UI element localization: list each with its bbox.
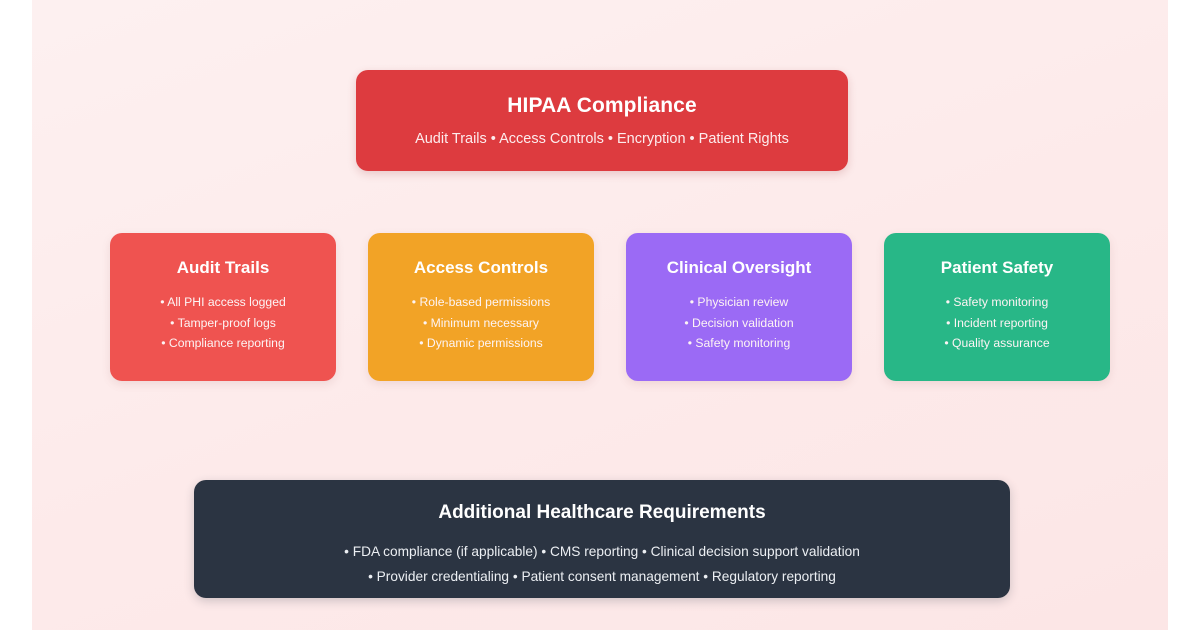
pillar-card-row: Audit Trails • All PHI access logged • T… xyxy=(110,233,1110,381)
footer-line: • Provider credentialing • Patient conse… xyxy=(344,564,860,589)
hipaa-compliance-banner: HIPAA Compliance Audit Trails • Access C… xyxy=(356,70,848,171)
list-item: • Dynamic permissions xyxy=(412,333,550,354)
list-item: • Incident reporting xyxy=(944,313,1049,334)
footer-title: Additional Healthcare Requirements xyxy=(438,502,765,525)
list-item: • Safety monitoring xyxy=(944,292,1049,313)
card-item-list: • Role-based permissions • Minimum neces… xyxy=(412,292,550,354)
list-item: • Role-based permissions xyxy=(412,292,550,313)
banner-subtitle: Audit Trails • Access Controls • Encrypt… xyxy=(415,131,789,148)
pillar-card-patient-safety: Patient Safety • Safety monitoring • Inc… xyxy=(884,233,1110,381)
list-item: • Quality assurance xyxy=(944,333,1049,354)
list-item: • Physician review xyxy=(684,292,793,313)
list-item: • All PHI access logged xyxy=(160,292,286,313)
card-title: Access Controls xyxy=(414,258,548,278)
pillar-card-clinical-oversight: Clinical Oversight • Physician review • … xyxy=(626,233,852,381)
footer-requirement-lines: • FDA compliance (if applicable) • CMS r… xyxy=(344,539,860,589)
list-item: • Tamper-proof logs xyxy=(160,313,286,334)
pillar-card-access-controls: Access Controls • Role-based permissions… xyxy=(368,233,594,381)
list-item: • Minimum necessary xyxy=(412,313,550,334)
card-item-list: • Physician review • Decision validation… xyxy=(684,292,793,354)
list-item: • Safety monitoring xyxy=(684,333,793,354)
list-item: • Compliance reporting xyxy=(160,333,286,354)
card-item-list: • Safety monitoring • Incident reporting… xyxy=(944,292,1049,354)
footer-line: • FDA compliance (if applicable) • CMS r… xyxy=(344,539,860,564)
card-title: Audit Trails xyxy=(177,258,270,278)
card-title: Patient Safety xyxy=(941,258,1053,278)
banner-title: HIPAA Compliance xyxy=(507,93,696,118)
pillar-card-audit-trails: Audit Trails • All PHI access logged • T… xyxy=(110,233,336,381)
list-item: • Decision validation xyxy=(684,313,793,334)
card-title: Clinical Oversight xyxy=(667,258,812,278)
additional-requirements-panel: Additional Healthcare Requirements • FDA… xyxy=(194,480,1010,598)
diagram-canvas: HIPAA Compliance Audit Trails • Access C… xyxy=(32,0,1168,630)
card-item-list: • All PHI access logged • Tamper-proof l… xyxy=(160,292,286,354)
